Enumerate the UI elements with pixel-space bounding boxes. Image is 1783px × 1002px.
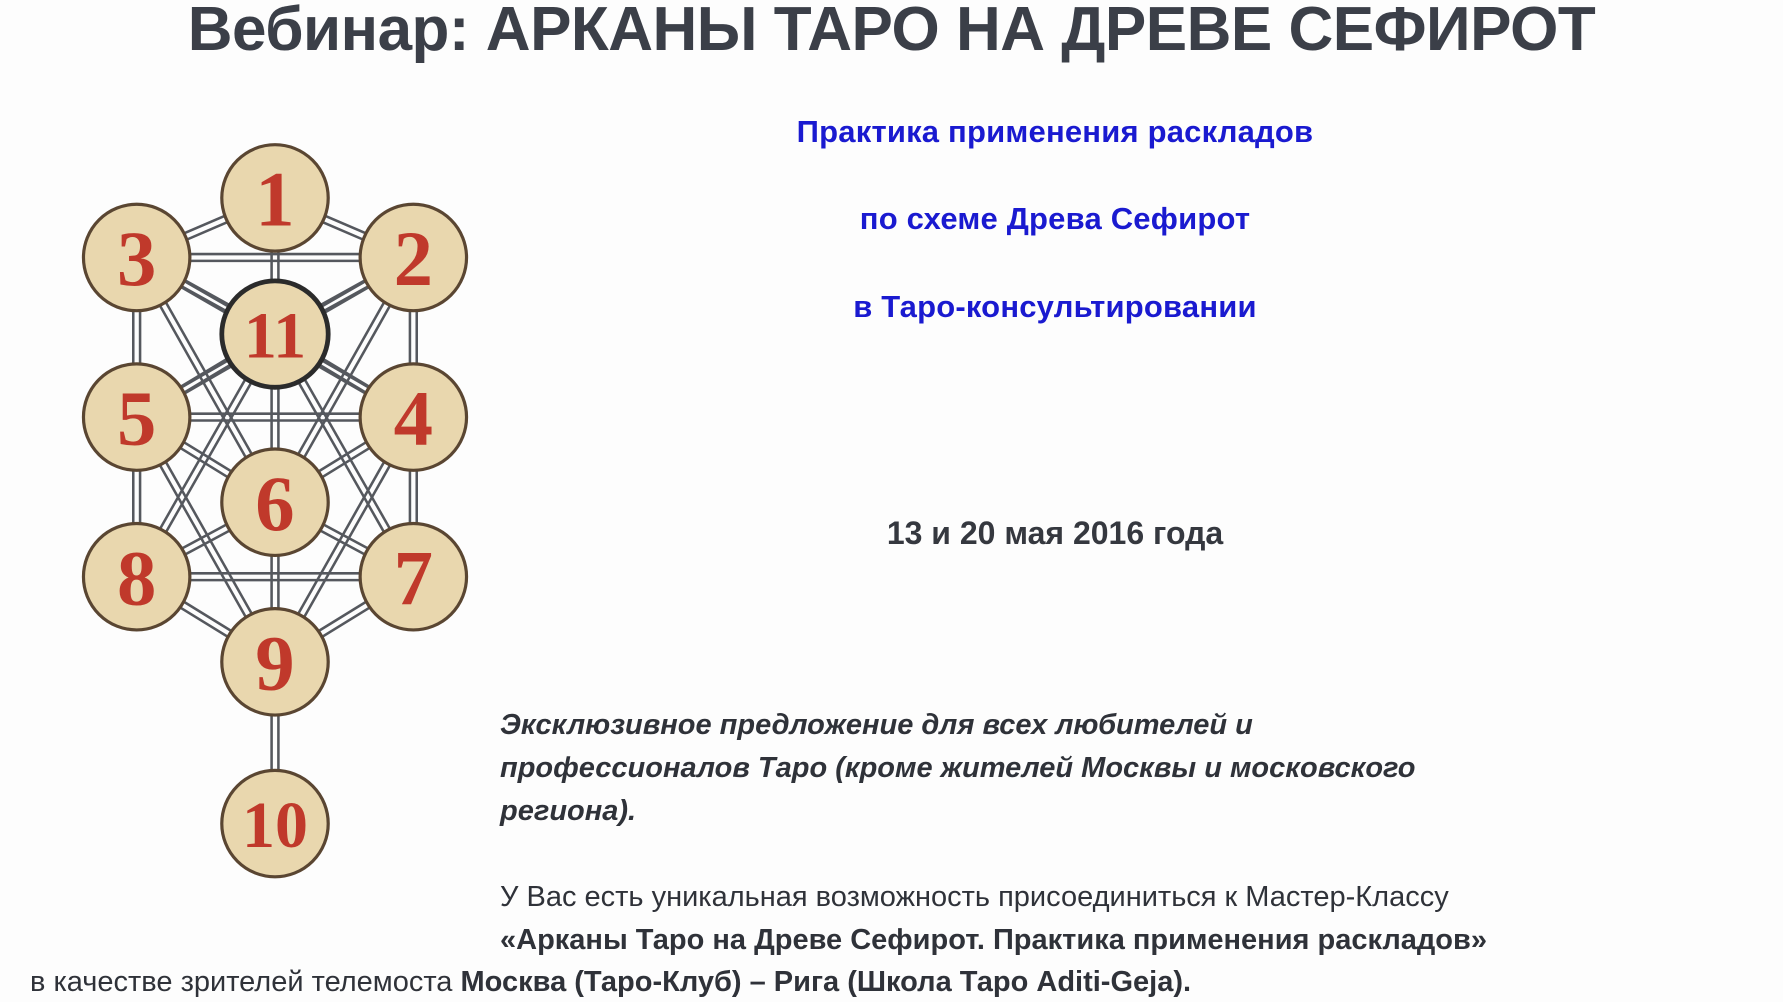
sephira-label-4: 4 xyxy=(394,376,433,463)
sephira-label-7: 7 xyxy=(394,535,433,622)
sephira-node-4[interactable]: 4 xyxy=(360,364,466,470)
sephira-node-8[interactable]: 8 xyxy=(83,524,189,630)
sephira-label-6: 6 xyxy=(255,461,294,548)
sephira-node-5[interactable]: 5 xyxy=(83,364,189,470)
sephira-node-6[interactable]: 6 xyxy=(222,449,328,555)
event-date: 13 и 20 мая 2016 года xyxy=(555,513,1555,553)
sephira-label-1: 1 xyxy=(255,157,294,244)
sephira-node-11[interactable]: 11 xyxy=(222,281,328,387)
telebridge-prefix: в качестве зрителей телемоста xyxy=(30,966,461,998)
invitation-paragraph: У Вас есть уникальная возможность присое… xyxy=(500,876,1783,962)
invitation-line-1: У Вас есть уникальная возможность присое… xyxy=(500,881,1449,913)
tree-path-7-9 xyxy=(321,607,371,637)
poster-canvas: Вебинар: АРКАНЫ ТАРО НА ДРЕВЕ СЕФИРОТ 12… xyxy=(0,0,1783,1002)
sephira-label-8: 8 xyxy=(117,535,156,622)
tree-path-8-9 xyxy=(183,601,233,631)
telebridge-cities: Москва (Таро-Клуб) – Рига (Школа Таро Ad… xyxy=(461,966,1192,998)
subhead-line-1: Практика применения раскладов xyxy=(555,113,1555,151)
sephira-label-10: 10 xyxy=(242,789,308,862)
sephira-node-7[interactable]: 7 xyxy=(360,524,466,630)
right-content-column: Практика применения раскладов по схеме Д… xyxy=(500,0,1783,1002)
tree-of-sephirot-diagram: 1231145678910 xyxy=(60,100,490,930)
telebridge-line: в качестве зрителей телемоста Москва (Та… xyxy=(30,962,1783,1002)
sephira-label-5: 5 xyxy=(117,376,156,463)
invitation-course-title: «Арканы Таро на Древе Сефирот. Практика … xyxy=(500,924,1487,956)
sephira-label-9: 9 xyxy=(255,620,294,707)
sephira-label-2: 2 xyxy=(394,216,433,303)
subhead-line-3: в Таро-консультировании xyxy=(555,288,1555,326)
sephira-node-9[interactable]: 9 xyxy=(222,609,328,715)
sephira-node-2[interactable]: 2 xyxy=(360,204,466,310)
sephira-node-1[interactable]: 1 xyxy=(222,145,328,251)
tree-path-8-9 xyxy=(179,607,229,637)
subhead-line-2: по схеме Древа Сефирот xyxy=(555,200,1555,238)
sephira-node-3[interactable]: 3 xyxy=(83,204,189,310)
tree-path-7-9 xyxy=(318,601,368,631)
exclusive-offer-paragraph: Эксклюзивное предложение для всех любите… xyxy=(500,704,1510,833)
tree-of-sephirot-svg: 1231145678910 xyxy=(60,100,490,930)
sephira-label-3: 3 xyxy=(117,216,156,303)
sephira-label-11: 11 xyxy=(244,300,306,373)
sephira-node-10[interactable]: 10 xyxy=(222,770,328,876)
